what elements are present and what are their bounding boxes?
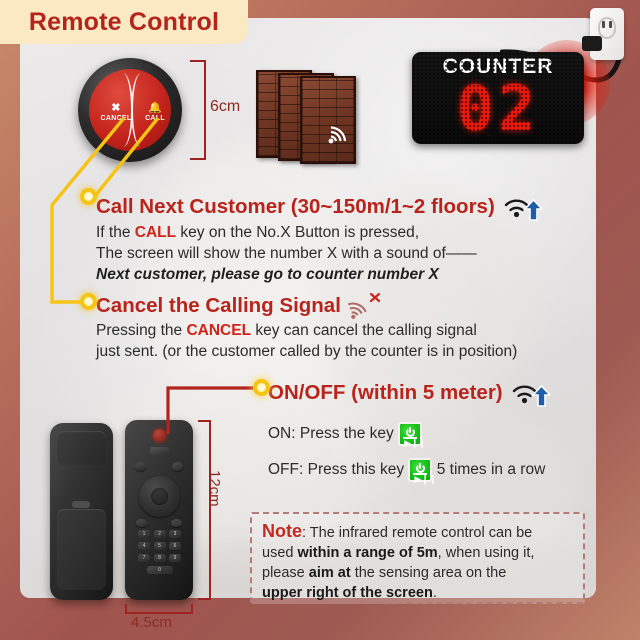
section-cancel-line-1: Pressing the CANCEL key can cancel the c… bbox=[96, 320, 517, 341]
brick-wall-group bbox=[256, 66, 368, 160]
led-dot-mask bbox=[412, 52, 584, 144]
text-fragment: used bbox=[262, 545, 297, 561]
keyword-call: CALL bbox=[135, 224, 176, 241]
text-fragment: please bbox=[262, 565, 309, 581]
call-key[interactable]: 🔔 CALL bbox=[135, 103, 175, 122]
remote-front-view: 1 2 3 4 5 6 7 8 9 0 bbox=[125, 420, 193, 600]
numpad-row: 4 5 6 bbox=[138, 542, 181, 550]
dimension-bracket-6cm bbox=[190, 60, 206, 160]
section-onoff-heading: ON/OFF (within 5 meter) bbox=[268, 381, 503, 405]
numpad-key[interactable]: 7 bbox=[138, 554, 150, 562]
bell-icon: 🔔 bbox=[135, 103, 175, 114]
section-call-heading: Call Next Customer (30~150m/1~2 floors) bbox=[96, 195, 495, 219]
numpad-key[interactable]: 9 bbox=[169, 554, 181, 562]
section-cancel-heading: Cancel the Calling Signal bbox=[96, 294, 341, 318]
keyword-cancel: CANCEL bbox=[186, 322, 251, 339]
text-fragment: key on the No.X Button is pressed, bbox=[176, 224, 419, 241]
dimension-bracket-4-5cm bbox=[125, 604, 193, 614]
dimension-label-6cm: 6cm bbox=[210, 98, 240, 116]
remote-ok-key[interactable] bbox=[151, 488, 168, 505]
text-fragment: the sensing area on the bbox=[351, 565, 507, 581]
remote-key-lower-left[interactable] bbox=[136, 519, 147, 527]
power-symbol bbox=[416, 464, 425, 473]
text-fragment: key can cancel the calling signal bbox=[251, 322, 477, 339]
text-fragment: OFF: Press this key bbox=[268, 461, 404, 478]
numpad-key[interactable]: 0 bbox=[147, 566, 173, 574]
power-key-icon[interactable]: ▶❙❙ bbox=[408, 458, 432, 482]
dimension-label-4-5cm: 4.5cm bbox=[131, 614, 172, 631]
power-symbol bbox=[406, 428, 415, 437]
note-emphasis-location: upper right of the screen bbox=[262, 585, 433, 601]
call-button-face: ✖ CANCEL 🔔 CALL bbox=[89, 69, 171, 151]
header-banner: Remote Control bbox=[0, 0, 248, 44]
signal-cancel-icon bbox=[348, 292, 382, 320]
callout-dot-cancel bbox=[80, 293, 97, 310]
battery-lid-top bbox=[57, 431, 106, 465]
remote-numpad[interactable]: 1 2 3 4 5 6 7 8 9 0 bbox=[138, 530, 181, 578]
text-fragment: . bbox=[433, 585, 437, 601]
text-fragment: 5 times in a row bbox=[437, 461, 546, 478]
battery-lid-bottom bbox=[57, 509, 106, 590]
power-plug bbox=[582, 36, 602, 51]
lid-notch bbox=[72, 501, 90, 508]
play-pause-symbol: ▶❙❙ bbox=[414, 475, 436, 484]
numpad-row: 1 2 3 bbox=[138, 530, 181, 538]
remote-back-view bbox=[50, 423, 113, 600]
remote-key-lower-right[interactable] bbox=[171, 519, 182, 527]
note-title: Note bbox=[262, 521, 302, 541]
outlet-slot bbox=[602, 21, 605, 28]
infographic-canvas: Remote Control ✖ CANCEL 🔔 CALL 6cm bbox=[0, 0, 640, 640]
dimension-label-12cm: 12cm bbox=[206, 470, 223, 507]
call-key-label: CALL bbox=[145, 115, 165, 122]
onoff-on-line: ON: Press the key ▶❙❙ bbox=[268, 422, 550, 446]
numpad-key[interactable]: 2 bbox=[154, 530, 166, 538]
text-fragment: : The infrared remote control can be bbox=[302, 525, 532, 541]
cancel-x-icon: ✖ bbox=[96, 103, 136, 114]
page-title: Remote Control bbox=[29, 8, 219, 37]
outlet-slot bbox=[609, 21, 612, 28]
note-box: Note: The infrared remote control can be… bbox=[250, 512, 585, 604]
section-cancel-line-2: just sent. (or the customer called by th… bbox=[96, 341, 517, 362]
section-on-off: ON/OFF (within 5 meter) ON: Press the ke… bbox=[268, 378, 550, 482]
note-line-2: used within a range of 5m, when using it… bbox=[262, 543, 573, 563]
cancel-key[interactable]: ✖ CANCEL bbox=[96, 103, 136, 122]
note-line-4: upper right of the screen. bbox=[262, 583, 573, 603]
remote-led-bar bbox=[150, 447, 169, 455]
remote-soft-key-left[interactable] bbox=[135, 462, 146, 471]
wifi-up-arrow-icon bbox=[510, 378, 550, 408]
note-emphasis-range: within a range of 5m bbox=[297, 545, 437, 561]
wifi-icon bbox=[328, 126, 350, 144]
numpad-row: 7 8 9 bbox=[138, 554, 181, 562]
note-emphasis-aim: aim at bbox=[309, 565, 351, 581]
call-button-product: ✖ CANCEL 🔔 CALL bbox=[78, 58, 182, 162]
numpad-key[interactable]: 3 bbox=[169, 530, 181, 538]
remote-power-key[interactable] bbox=[153, 429, 166, 442]
text-fragment: If the bbox=[96, 224, 135, 241]
section-call-italic-line: Next customer, please go to counter numb… bbox=[96, 264, 542, 285]
text-fragment: Pressing the bbox=[96, 322, 186, 339]
numpad-key[interactable]: 1 bbox=[138, 530, 150, 538]
cancel-key-label: CANCEL bbox=[101, 115, 132, 122]
play-pause-symbol: ▶❙❙ bbox=[404, 439, 426, 448]
numpad-key[interactable]: 5 bbox=[154, 542, 166, 550]
text-fragment: , when using it, bbox=[438, 545, 535, 561]
numpad-key[interactable]: 4 bbox=[138, 542, 150, 550]
note-line-3: please aim at the sensing area on the bbox=[262, 563, 573, 583]
section-call-line-1: If the CALL key on the No.X Button is pr… bbox=[96, 222, 542, 243]
remote-dpad[interactable] bbox=[139, 476, 180, 517]
section-cancel-calling-signal: Cancel the Calling Signal Pressing the C… bbox=[96, 292, 517, 362]
text-fragment: ON: Press the key bbox=[268, 425, 394, 442]
numpad-row: 0 bbox=[138, 566, 181, 574]
counter-display: COUNTER 02 bbox=[412, 52, 584, 144]
wall-outlet bbox=[590, 8, 624, 60]
note-line-1: Note: The infrared remote control can be bbox=[262, 521, 573, 543]
brick-panel bbox=[300, 76, 356, 164]
onoff-off-line: OFF: Press this key ▶❙❙ 5 times in a row bbox=[268, 458, 550, 482]
numpad-key[interactable]: 8 bbox=[154, 554, 166, 562]
remote-soft-key-right[interactable] bbox=[172, 462, 183, 471]
callout-dot-onoff bbox=[253, 379, 270, 396]
section-call-next-customer: Call Next Customer (30~150m/1~2 floors) … bbox=[96, 192, 542, 285]
callout-dot-call bbox=[80, 188, 97, 205]
counter-display-group: COUNTER 02 bbox=[412, 52, 584, 144]
section-call-line-2: The screen will show the number X with a… bbox=[96, 243, 542, 264]
numpad-key[interactable]: 6 bbox=[169, 542, 181, 550]
dimension-bracket-12cm bbox=[198, 420, 211, 600]
wifi-up-arrow-icon bbox=[502, 192, 542, 222]
power-key-icon[interactable]: ▶❙❙ bbox=[398, 422, 422, 446]
